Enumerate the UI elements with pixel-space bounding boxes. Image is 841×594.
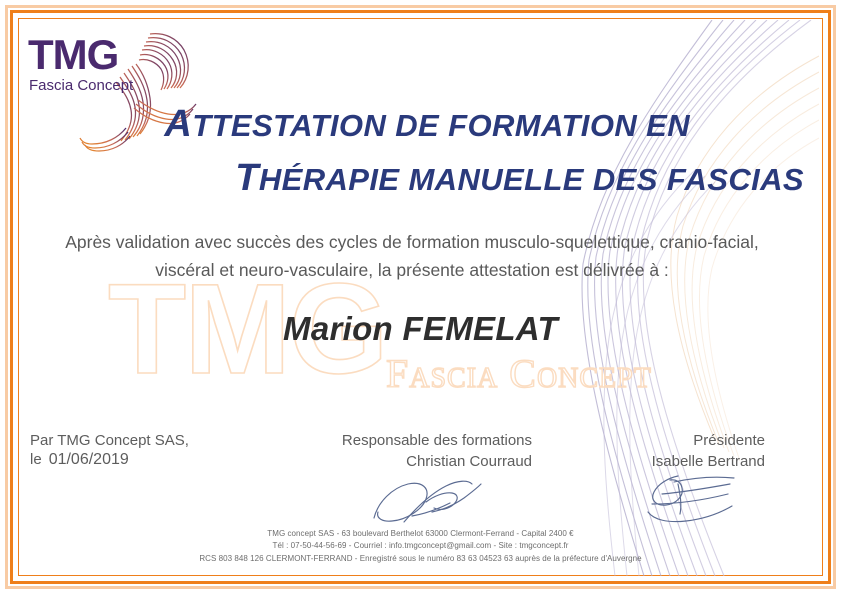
trainer-name: Christian Courraud bbox=[278, 451, 532, 472]
logo-brand-text: TMG bbox=[28, 34, 118, 76]
recipient-name: Marion FEMELAT bbox=[0, 310, 841, 348]
title-line-2-initial: T bbox=[235, 157, 259, 199]
handwritten-signature-icon bbox=[638, 466, 758, 528]
footer-legal-text: TMG concept SAS - 63 boulevard Berthelot… bbox=[0, 528, 841, 565]
issue-date-row: le01/06/2019 bbox=[30, 451, 260, 469]
signature-block-president: Présidente Isabelle Bertrand bbox=[560, 430, 765, 473]
logo-tagline-text: Fascia Concept bbox=[29, 78, 133, 93]
issue-date-label: le bbox=[30, 451, 42, 468]
signature-block-issuer: Par TMG Concept SAS, le01/06/2019 bbox=[30, 430, 260, 469]
footer-line-3: RCS 803 848 126 CLERMONT-FERRAND - Enreg… bbox=[0, 553, 841, 565]
watermark-tagline: Fascia Concept bbox=[386, 354, 652, 394]
certificate-title: ATTESTATION DE FORMATION EN THÉRAPIE MAN… bbox=[150, 98, 810, 206]
title-line-1: ATTESTATION DE FORMATION EN bbox=[150, 98, 810, 152]
trainer-role: Responsable des formations bbox=[278, 430, 532, 451]
issue-date-value: 01/06/2019 bbox=[49, 451, 129, 468]
handwritten-signature-icon bbox=[368, 472, 488, 534]
title-line-1-initial: A bbox=[164, 103, 192, 145]
issuer-line: Par TMG Concept SAS, bbox=[30, 430, 260, 451]
title-line-2: THÉRAPIE MANUELLE DES FASCIAS bbox=[150, 152, 810, 206]
footer-line-1: TMG concept SAS - 63 boulevard Berthelot… bbox=[0, 528, 841, 540]
footer-line-2: Tél : 07-50-44-56-69 - Courriel : info.t… bbox=[0, 540, 841, 552]
body-paragraph: Après validation avec succès des cycles … bbox=[62, 228, 762, 285]
signature-block-trainer: Responsable des formations Christian Cou… bbox=[278, 430, 532, 473]
president-role: Présidente bbox=[560, 430, 765, 451]
certificate-document: TMG Fascia Concept bbox=[0, 0, 841, 594]
title-line-1-rest: TTESTATION DE FORMATION EN bbox=[192, 108, 690, 143]
signature-row: Par TMG Concept SAS, le01/06/2019 Respon… bbox=[30, 430, 790, 540]
title-line-2-rest: HÉRAPIE MANUELLE DES FASCIAS bbox=[259, 162, 804, 197]
